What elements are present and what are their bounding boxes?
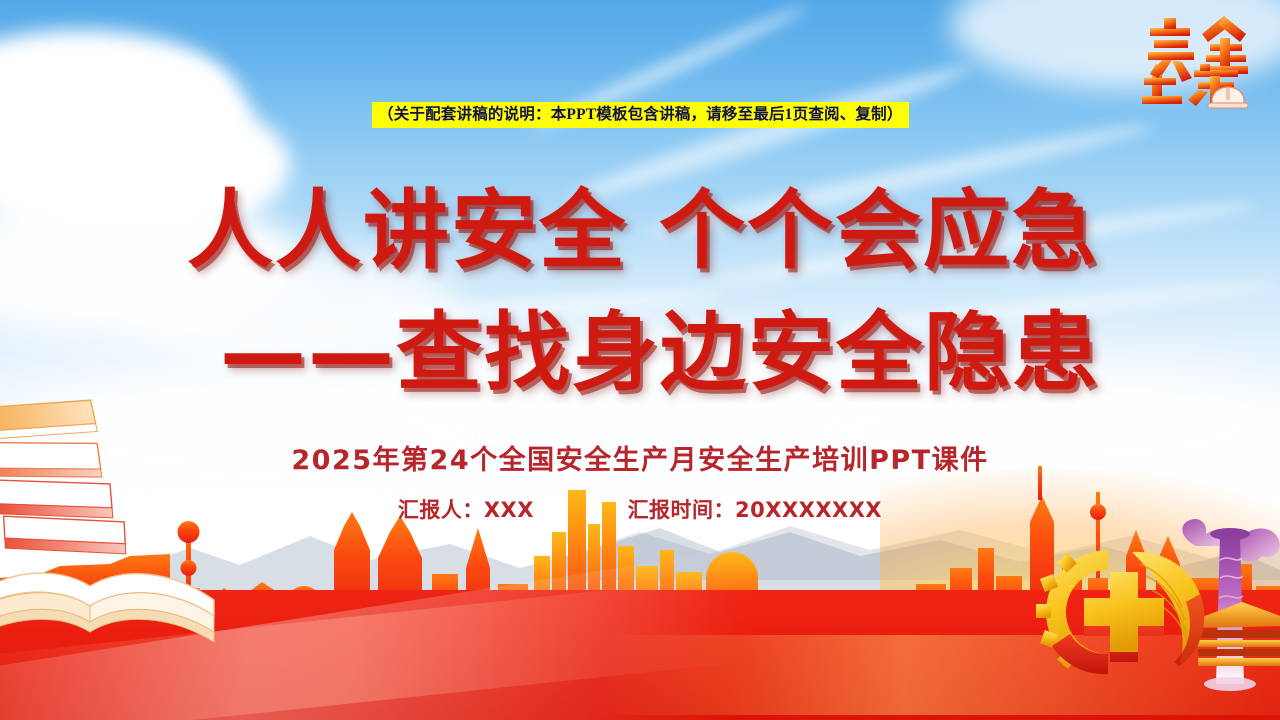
presentation-meta: 汇报人：XXX 汇报时间：20XXXXXXX bbox=[0, 494, 1280, 524]
main-title-line-2: ——查找身边安全隐患 bbox=[0, 310, 1280, 396]
title-block: 人人讲安全 个个会应急 ——查找身边安全隐患 bbox=[0, 188, 1280, 396]
safety-production-emblem bbox=[1020, 520, 1230, 710]
cloud-shape bbox=[60, 60, 250, 170]
main-title-line-1: 人人讲安全 个个会应急 bbox=[0, 188, 1280, 274]
subtitle: 2025年第24个全国安全生产月安全生产培训PPT课件 bbox=[0, 438, 1280, 477]
safety-production-logo bbox=[1138, 8, 1266, 112]
presentation-slide: （关于配套讲稿的说明：本PPT模板包含讲稿，请移至最后1页查阅、复制） 人人讲安… bbox=[0, 0, 1280, 720]
stacked-books-decoration bbox=[0, 392, 236, 672]
presenter-label: 汇报人：XXX bbox=[398, 498, 534, 522]
notice-banner: （关于配套讲稿的说明：本PPT模板包含讲稿，请移至最后1页查阅、复制） bbox=[372, 102, 909, 128]
date-label: 汇报时间：20XXXXXXX bbox=[628, 498, 883, 522]
